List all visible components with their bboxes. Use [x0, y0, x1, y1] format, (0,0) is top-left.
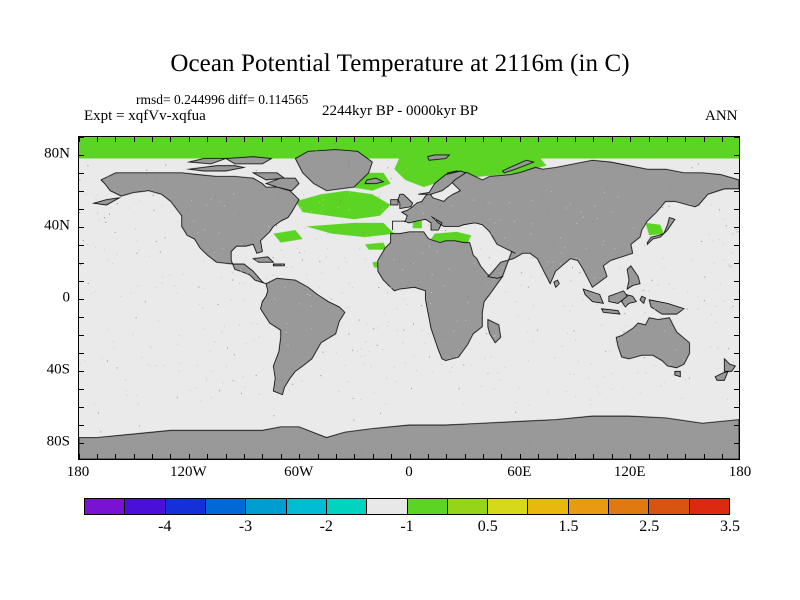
y-axis-tick [79, 245, 84, 246]
y-axis-tick [79, 227, 84, 228]
x-axis-tick [520, 137, 521, 142]
x-axis-tick [630, 454, 631, 459]
x-axis-tick [318, 454, 319, 459]
x-axis-tick [152, 137, 153, 142]
x-axis-tick [97, 137, 98, 142]
x-axis-tick [465, 454, 466, 459]
x-axis-tick [79, 137, 80, 142]
x-axis-tick [428, 454, 429, 459]
x-axis-tick [501, 454, 502, 459]
x-axis-tick [318, 137, 319, 142]
y-axis-tick [79, 389, 84, 390]
x-axis-tick [667, 137, 668, 142]
y-axis-tick [79, 155, 84, 156]
y-axis-tick [79, 353, 84, 354]
y-axis-tick [79, 407, 84, 408]
x-axis-tick [299, 137, 300, 142]
x-axis-tick [336, 454, 337, 459]
x-axis-tick [152, 454, 153, 459]
x-axis-tick [97, 454, 98, 459]
season-label: ANN [705, 108, 738, 125]
x-axis-tick [391, 137, 392, 142]
x-axis-tick [593, 454, 594, 459]
x-axis-tick [115, 137, 116, 142]
x-axis-tick [354, 137, 355, 142]
y-axis-tick [734, 443, 739, 444]
x-axis-tick [704, 137, 705, 142]
x-axis-tick [483, 137, 484, 142]
y-axis-tick [734, 371, 739, 372]
y-axis-label: 40N [24, 218, 70, 235]
y-axis-label: 0 [24, 290, 70, 307]
y-axis-tick [734, 227, 739, 228]
x-axis-tick [685, 454, 686, 459]
x-axis-tick [262, 454, 263, 459]
x-axis-tick [704, 454, 705, 459]
y-axis-tick [79, 317, 84, 318]
colorbar-segment-0 [85, 499, 125, 514]
colorbar-segment-4 [246, 499, 286, 514]
x-axis-tick [207, 454, 208, 459]
y-axis-tick [734, 407, 739, 408]
map-plot-area [78, 136, 740, 460]
x-axis-tick [557, 137, 558, 142]
colorbar-tick-label: 1.5 [559, 518, 579, 536]
y-axis-tick [79, 335, 84, 336]
x-axis-tick [373, 454, 374, 459]
colorbar-segment-5 [287, 499, 327, 514]
x-axis-label: 0 [405, 464, 413, 481]
y-axis-tick [734, 245, 739, 246]
x-axis-tick [667, 454, 668, 459]
x-axis-tick [722, 454, 723, 459]
y-axis-tick [734, 263, 739, 264]
x-axis-label: 60E [507, 464, 531, 481]
x-axis-tick [336, 137, 337, 142]
world-map-canvas [79, 137, 739, 459]
y-axis-tick [734, 137, 739, 138]
x-axis-tick [281, 137, 282, 142]
x-axis-tick [649, 454, 650, 459]
colorbar-segment-14 [649, 499, 689, 514]
colorbar-segment-10 [488, 499, 528, 514]
x-axis-label: 180 [729, 464, 752, 481]
colorbar-segment-9 [448, 499, 488, 514]
page-title: Ocean Potential Temperature at 2116m (in… [0, 50, 800, 78]
x-axis-tick [189, 137, 190, 142]
x-axis-tick [170, 137, 171, 142]
x-axis-tick [538, 454, 539, 459]
colorbar-segment-7 [367, 499, 407, 514]
x-axis-tick [685, 137, 686, 142]
colorbar-tick-label: -2 [320, 518, 333, 536]
x-axis-tick [501, 137, 502, 142]
colorbar-tick-label: -4 [158, 518, 171, 536]
x-axis-tick [262, 137, 263, 142]
y-axis-tick [79, 425, 84, 426]
x-axis-tick [354, 454, 355, 459]
x-axis-tick [428, 137, 429, 142]
y-axis-tick [734, 389, 739, 390]
statistics-label: rmsd= 0.244996 diff= 0.114565 [136, 92, 308, 108]
x-axis-label: 180 [67, 464, 90, 481]
y-axis-tick [734, 281, 739, 282]
y-axis-label: 80N [24, 146, 70, 163]
x-axis-tick [410, 137, 411, 142]
y-axis-tick [79, 173, 84, 174]
y-axis-tick [79, 191, 84, 192]
y-axis-tick [79, 371, 84, 372]
x-axis-tick [520, 454, 521, 459]
colorbar-segment-13 [609, 499, 649, 514]
colorbar-segment-2 [166, 499, 206, 514]
x-axis-tick [410, 454, 411, 459]
x-axis-tick [226, 454, 227, 459]
y-axis-tick [79, 209, 84, 210]
experiment-label: Expt = xqfVv-xqfua [84, 108, 206, 125]
x-axis-tick [649, 137, 650, 142]
x-axis-tick [575, 454, 576, 459]
colorbar-tick-label: 2.5 [639, 518, 659, 536]
y-axis-tick [734, 299, 739, 300]
x-axis-tick [557, 454, 558, 459]
y-axis-tick [734, 209, 739, 210]
y-axis-tick [79, 443, 84, 444]
colorbar-segment-11 [528, 499, 568, 514]
y-axis-tick [734, 353, 739, 354]
x-axis-tick [281, 454, 282, 459]
colorbar-tick-label: -3 [239, 518, 252, 536]
x-axis-tick [446, 454, 447, 459]
x-axis-tick [299, 454, 300, 459]
colorbar-segment-12 [569, 499, 609, 514]
x-axis-tick [391, 454, 392, 459]
x-axis-tick [483, 454, 484, 459]
x-axis-tick [115, 454, 116, 459]
x-axis-tick [373, 137, 374, 142]
colorbar [84, 498, 730, 515]
colorbar-tick-label: 3.5 [720, 518, 740, 536]
x-axis-tick [612, 137, 613, 142]
x-axis-tick [722, 137, 723, 142]
y-axis-tick [79, 263, 84, 264]
x-axis-tick [207, 137, 208, 142]
x-axis-label: 60W [284, 464, 313, 481]
x-axis-tick [79, 454, 80, 459]
x-axis-tick [170, 454, 171, 459]
x-axis-tick [134, 454, 135, 459]
y-axis-tick [79, 137, 84, 138]
y-axis-tick [79, 281, 84, 282]
y-axis-tick [734, 155, 739, 156]
x-axis-tick [226, 137, 227, 142]
x-axis-tick [575, 137, 576, 142]
x-axis-tick [446, 137, 447, 142]
x-axis-tick [134, 137, 135, 142]
x-axis-tick [465, 137, 466, 142]
x-axis-tick [612, 454, 613, 459]
colorbar-segment-6 [327, 499, 367, 514]
colorbar-segment-15 [690, 499, 729, 514]
y-axis-tick [79, 299, 84, 300]
period-label: 2244kyr BP - 0000kyr BP [322, 103, 478, 120]
y-axis-tick [734, 317, 739, 318]
x-axis-tick [630, 137, 631, 142]
colorbar-segment-1 [125, 499, 165, 514]
y-axis-label: 80S [24, 434, 70, 451]
y-axis-tick [734, 335, 739, 336]
x-axis-tick [189, 454, 190, 459]
y-axis-tick [734, 173, 739, 174]
x-axis-tick [244, 137, 245, 142]
colorbar-segment-8 [408, 499, 448, 514]
colorbar-tick-label: 0.5 [478, 518, 498, 536]
x-axis-label: 120W [170, 464, 207, 481]
x-axis-tick [593, 137, 594, 142]
y-axis-tick [734, 425, 739, 426]
x-axis-tick [538, 137, 539, 142]
colorbar-tick-label: -1 [400, 518, 413, 536]
y-axis-label: 40S [24, 362, 70, 379]
y-axis-tick [734, 191, 739, 192]
x-axis-tick [244, 454, 245, 459]
x-axis-label: 120E [614, 464, 646, 481]
colorbar-segment-3 [206, 499, 246, 514]
